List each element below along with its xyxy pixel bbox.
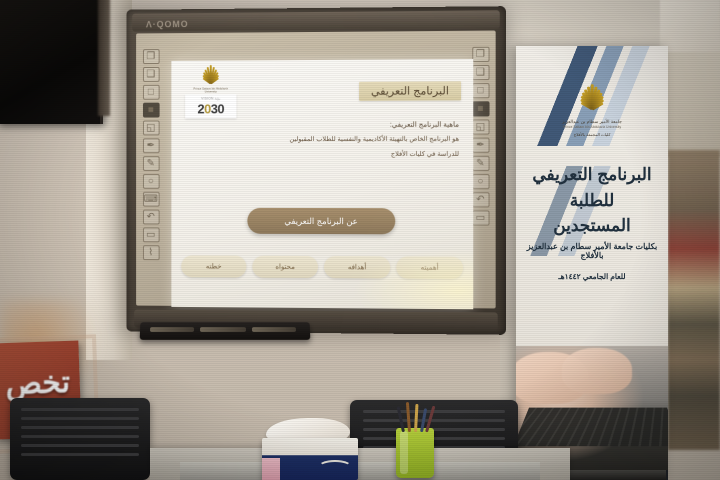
table-glass-top xyxy=(180,462,540,480)
vision-2030-number: 2030 xyxy=(197,101,224,116)
slide-button-row[interactable]: خطته محتواه أهدافه أهميته xyxy=(181,255,463,279)
page-blank-icon[interactable]: □ xyxy=(142,85,159,100)
banner-headline-line-1: البرنامج التعريفي للطلبة xyxy=(524,162,660,213)
interactive-whiteboard[interactable]: Λ·QOMO ❐❑□■◱✒✎○⌨↶▭⌇ ❐❑□■◱✒✎○↶▭ Prince Sa… xyxy=(126,6,506,335)
slide-button-goals[interactable]: أهدافه xyxy=(324,256,390,278)
pen-icon[interactable]: ✒ xyxy=(142,138,159,153)
page-copy-icon[interactable]: ❑ xyxy=(142,67,159,82)
university-logo-icon: Prince Sattam bin Abdulaziz University xyxy=(188,66,233,92)
whiteboard-toolbar-left[interactable]: ❐❑□■◱✒✎○⌨↶▭⌇ xyxy=(138,39,163,300)
undo-icon-glyph: ↶ xyxy=(143,211,158,224)
page-fill-icon-glyph: ■ xyxy=(473,102,488,115)
laptop-keyboard xyxy=(516,408,668,447)
pen-holder-cup xyxy=(396,428,434,478)
pen-icon[interactable]: ✒ xyxy=(472,138,489,153)
tissue-box-band xyxy=(262,458,280,480)
banner-subtitle: بكليات جامعة الأمير سطام بن عبدالعزيز با… xyxy=(522,242,662,260)
page-blank-icon-glyph: □ xyxy=(473,84,488,97)
eraser-icon-glyph: ▭ xyxy=(473,211,488,224)
chair-slat xyxy=(363,428,504,431)
page-copy-icon-glyph: ❑ xyxy=(143,68,158,81)
banner-university-logo: جامعة الأمير سطام بن عبدالعزيز Prince Sa… xyxy=(554,88,630,137)
slide-button-importance[interactable]: أهميته xyxy=(396,256,463,279)
slide-body-line-1: هو البرنامج الخاص بالتهيئة الأكاديمية وا… xyxy=(185,133,459,148)
pen-cup-highlight xyxy=(400,431,408,474)
whiteboard-pen-tray[interactable] xyxy=(140,322,311,340)
keyboard-icon[interactable]: ⌨ xyxy=(142,192,159,207)
keyboard-icon-glyph: ⌨ xyxy=(143,193,158,206)
chair-slat xyxy=(21,408,139,411)
chair-slat xyxy=(21,417,139,420)
banner-academic-year: للعام الجامعي ١٤٤٢هـ xyxy=(522,272,662,281)
whiteboard-top-bezel: Λ·QOMO xyxy=(132,10,500,31)
slide-button-about-program[interactable]: عن البرنامج التعريفي xyxy=(247,208,395,234)
banner-logo-unit: كليات المجمعة بالأفلاج xyxy=(554,132,630,137)
vision-2030-label: VISION رؤية xyxy=(185,96,236,100)
banner-logo-english: Prince Sattam bin Abdulaziz University xyxy=(554,125,630,129)
slide-body-lead: ماهية البرنامج التعريفي: xyxy=(185,118,459,134)
wall-monitor-edge xyxy=(98,0,110,116)
projected-slide: Prince Sattam bin Abdulaziz University V… xyxy=(171,59,473,309)
page-new-icon[interactable]: ❐ xyxy=(472,47,489,62)
banner-headline: البرنامج التعريفي للطلبة المستجدين xyxy=(524,162,660,239)
slide-body-line-2: للدراسة في كليات الأفلاج xyxy=(185,147,459,162)
highlighter-icon[interactable]: ✎ xyxy=(472,156,489,171)
banner-logo-fan-icon xyxy=(554,88,630,118)
whiteboard-surface[interactable]: ❐❑□■◱✒✎○⌨↶▭⌇ ❐❑□■◱✒✎○↶▭ Prince Sattam bi… xyxy=(136,31,496,309)
page-new-icon-glyph: ❐ xyxy=(473,48,488,61)
select-icon-glyph: ◱ xyxy=(143,121,158,134)
select-icon[interactable]: ◱ xyxy=(142,120,159,135)
tissue-box xyxy=(262,438,358,480)
pen-icon-glyph: ✒ xyxy=(473,139,488,152)
slide-button-content[interactable]: محتواه xyxy=(252,256,318,278)
wall-monitor xyxy=(0,0,103,124)
chair-slat xyxy=(21,444,139,447)
slide-body-text: ماهية البرنامج التعريفي: هو البرنامج الخ… xyxy=(185,118,459,162)
slide-title: البرنامج التعريفي xyxy=(359,81,461,101)
shape-icon[interactable]: ○ xyxy=(472,174,489,189)
ceiling-arch xyxy=(660,0,720,56)
chair-left xyxy=(10,398,150,480)
eraser-icon[interactable]: ▭ xyxy=(472,210,489,225)
bookshelf xyxy=(668,150,720,450)
pen-tray-slot[interactable] xyxy=(252,327,296,332)
hand-right xyxy=(562,348,632,394)
pen-tray-slot[interactable] xyxy=(150,327,194,332)
select-icon-glyph: ◱ xyxy=(473,120,488,133)
banner-headline-line-2: المستجدين xyxy=(524,213,660,239)
page-copy-icon[interactable]: ❑ xyxy=(472,65,489,80)
page-fill-icon-glyph: ■ xyxy=(143,104,158,117)
vision-2030-logo-icon: VISION رؤية 2030 xyxy=(185,94,236,118)
poster-text: تخص xyxy=(0,365,78,403)
chair-slat xyxy=(363,419,504,422)
shape-icon-glyph: ○ xyxy=(473,175,488,188)
pen-icon-glyph: ✒ xyxy=(143,139,158,152)
page-copy-icon-glyph: ❑ xyxy=(473,66,488,79)
chair-slat xyxy=(363,437,504,440)
highlighter-icon-glyph: ✎ xyxy=(143,157,158,170)
university-logo-caption: Prince Sattam bin Abdulaziz University xyxy=(188,87,233,94)
slide-button-plan[interactable]: خطته xyxy=(181,255,246,277)
eraser-icon-glyph: ▭ xyxy=(143,228,158,241)
page-blank-icon-glyph: □ xyxy=(143,86,158,99)
rollup-banner: جامعة الأمير سطام بن عبدالعزيز Prince Sa… xyxy=(516,46,668,480)
page-new-icon-glyph: ❐ xyxy=(143,50,158,63)
shape-icon[interactable]: ○ xyxy=(142,174,159,189)
page-fill-icon[interactable]: ■ xyxy=(472,101,489,116)
page-blank-icon[interactable]: □ xyxy=(472,83,489,98)
eraser-icon[interactable]: ▭ xyxy=(142,227,159,242)
shape-icon-glyph: ○ xyxy=(143,175,158,188)
select-icon[interactable]: ◱ xyxy=(472,119,489,134)
photo-scene: تخص Λ·QOMO ❐❑□■◱✒✎○⌨↶▭⌇ ❐❑□■◱✒✎○↶▭ Princ… xyxy=(0,0,720,480)
highlighter-icon[interactable]: ✎ xyxy=(142,156,159,171)
page-fill-icon[interactable]: ■ xyxy=(142,103,159,118)
slide-logo-block: Prince Sattam bin Abdulaziz University V… xyxy=(185,66,236,118)
chair-slat xyxy=(21,453,139,456)
lasso-icon-glyph: ⌇ xyxy=(143,246,158,259)
chair-slat xyxy=(21,426,139,429)
pen-tray-slot[interactable] xyxy=(200,327,246,332)
page-new-icon[interactable]: ❐ xyxy=(142,49,159,64)
undo-icon[interactable]: ↶ xyxy=(142,210,159,225)
undo-icon-glyph: ↶ xyxy=(473,193,488,206)
chair-slat xyxy=(21,435,139,438)
highlighter-icon-glyph: ✎ xyxy=(473,157,488,170)
lasso-icon[interactable]: ⌇ xyxy=(142,245,159,260)
undo-icon[interactable]: ↶ xyxy=(472,192,489,207)
wall-cabinet xyxy=(664,52,720,157)
tissue-box-swirl xyxy=(318,460,352,474)
whiteboard-brand-label: Λ·QOMO xyxy=(146,19,189,29)
